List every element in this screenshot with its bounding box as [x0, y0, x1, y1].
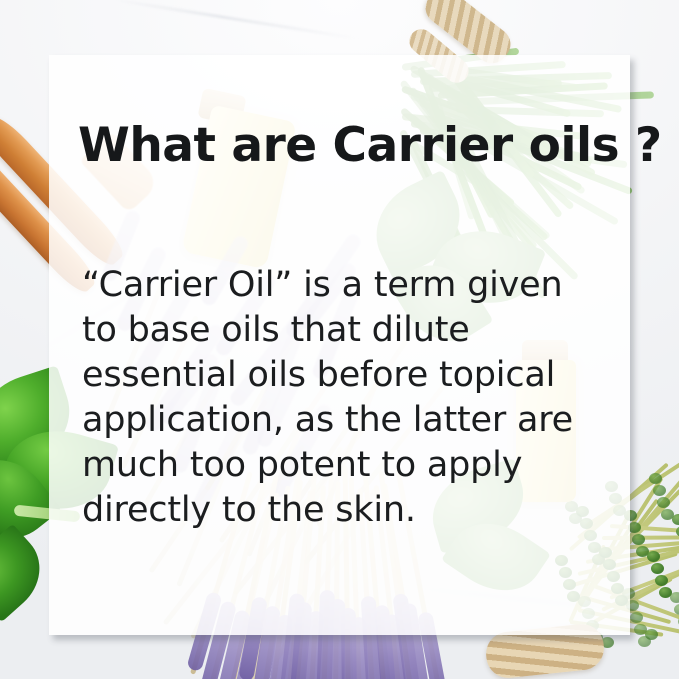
body-line: application, as the latter are [82, 398, 627, 443]
thyme-leaf [655, 575, 668, 586]
thyme-leaf [657, 497, 670, 508]
thyme-leaf [636, 546, 649, 557]
thyme-leaf [601, 637, 614, 648]
body-line: to base oils that dilute [82, 308, 627, 353]
content-card: What are Carrier oils ? “Carrier Oil” is… [49, 55, 630, 635]
body-line: essential oils before topical [82, 353, 627, 398]
thyme-leaf [647, 551, 660, 562]
marble-vein [111, 0, 358, 40]
body-paragraph: “Carrier Oil” is a term givento base oil… [82, 263, 627, 533]
page-title: What are Carrier oils ? [78, 118, 662, 173]
body-line: “Carrier Oil” is a term given [82, 263, 627, 308]
thyme-leaf [661, 509, 674, 520]
thyme-leaf [674, 604, 679, 615]
thyme-leaf [634, 624, 647, 635]
thyme-leaf [638, 636, 651, 647]
thyme-leaf [659, 587, 672, 598]
thyme-leaf [672, 514, 679, 525]
thyme-leaf [645, 629, 658, 640]
thyme-leaf [630, 612, 643, 623]
thyme-leaf [670, 592, 679, 603]
graphic-canvas: What are Carrier oils ? “Carrier Oil” is… [0, 0, 679, 679]
thyme-leaf [649, 473, 662, 484]
thyme-leaf [632, 534, 645, 545]
thyme-leaf [651, 563, 664, 574]
body-line: directly to the skin. [82, 488, 627, 533]
body-line: much too potent to apply [82, 443, 627, 488]
thyme-leaf [653, 485, 666, 496]
